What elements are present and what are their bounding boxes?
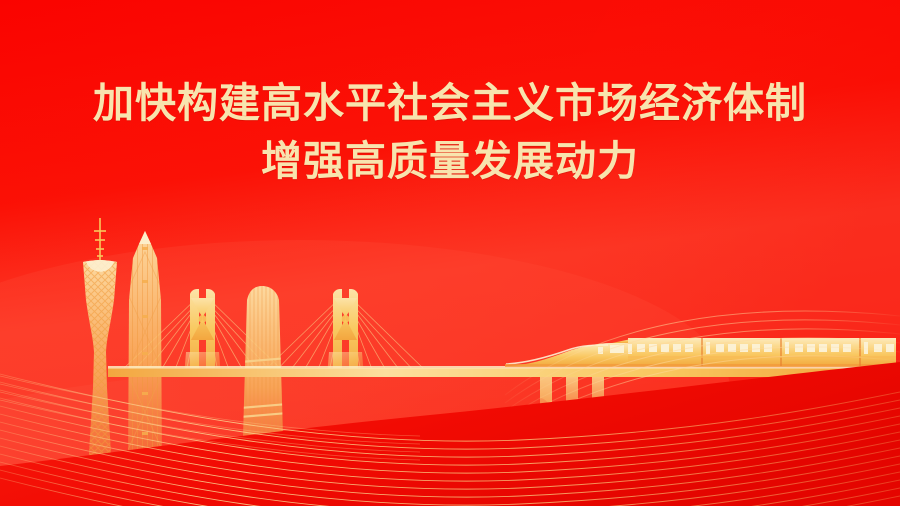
decoration-layer: [0, 0, 900, 506]
poster-banner: 加快构建高水平社会主义市场经济体制 增强高质量发展动力: [0, 0, 900, 506]
wave-deep-red: [0, 362, 900, 506]
